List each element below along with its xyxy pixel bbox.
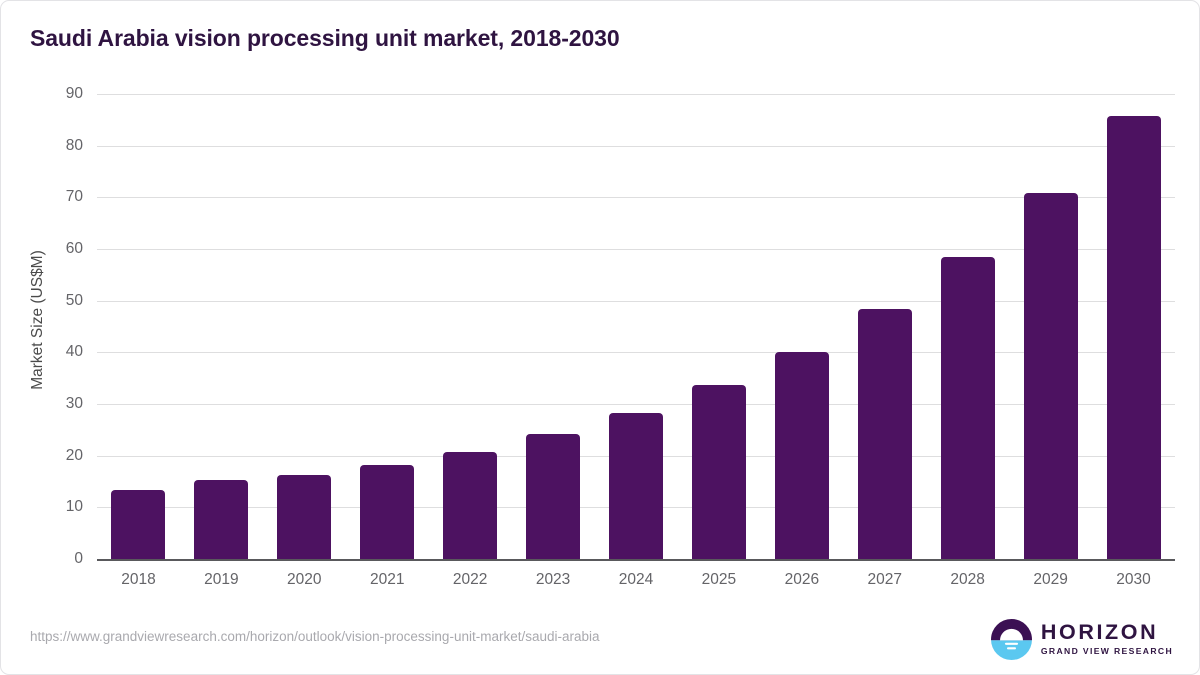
x-axis-tick-label: 2026: [785, 571, 819, 589]
bar[interactable]: [941, 257, 995, 559]
bar-slot: 2026: [760, 94, 843, 559]
bar[interactable]: [111, 490, 165, 559]
bar[interactable]: [443, 452, 497, 559]
bar-slot: 2027: [843, 94, 926, 559]
bar-slot: 2024: [595, 94, 678, 559]
bar[interactable]: [1107, 116, 1161, 559]
y-axis-tick-label: 30: [3, 395, 83, 413]
x-axis-tick-label: 2030: [1116, 571, 1150, 589]
y-axis-tick-label: 90: [3, 85, 83, 103]
bar-series: 2018201920202021202220232024202520262027…: [97, 94, 1175, 559]
source-url[interactable]: https://www.grandviewresearch.com/horizo…: [30, 629, 600, 644]
x-axis-line: [97, 559, 1175, 561]
x-axis-tick-label: 2020: [287, 571, 321, 589]
bar[interactable]: [194, 480, 248, 559]
x-axis-tick-label: 2029: [1033, 571, 1067, 589]
bar[interactable]: [858, 309, 912, 559]
y-axis-tick-label: 20: [3, 447, 83, 465]
bar-slot: 2022: [429, 94, 512, 559]
x-axis-tick-label: 2021: [370, 571, 404, 589]
horizon-logo-icon: [991, 619, 1032, 660]
y-axis-tick-label: 70: [3, 188, 83, 206]
x-axis-tick-label: 2019: [204, 571, 238, 589]
bar[interactable]: [360, 465, 414, 559]
x-axis-tick-label: 2018: [121, 571, 155, 589]
bar-slot: 2021: [346, 94, 429, 559]
bar-slot: 2029: [1009, 94, 1092, 559]
x-axis-tick-label: 2024: [619, 571, 653, 589]
logo-subtitle: GRAND VIEW RESEARCH: [1041, 647, 1173, 656]
bar[interactable]: [1024, 193, 1078, 559]
bar[interactable]: [277, 475, 331, 559]
bar[interactable]: [609, 413, 663, 559]
y-axis-tick-label: 80: [3, 137, 83, 155]
bar-slot: 2019: [180, 94, 263, 559]
bar-slot: 2023: [512, 94, 595, 559]
bar[interactable]: [692, 385, 746, 559]
chart-title: Saudi Arabia vision processing unit mark…: [30, 25, 620, 52]
logo-wordmark: HORIZON: [1041, 622, 1173, 644]
x-axis-tick-label: 2025: [702, 571, 736, 589]
bar[interactable]: [775, 352, 829, 559]
bar-slot: 2030: [1092, 94, 1175, 559]
y-axis-tick-label: 60: [3, 240, 83, 258]
y-axis-tick-label: 10: [3, 498, 83, 516]
x-axis-tick-label: 2022: [453, 571, 487, 589]
bar-slot: 2025: [677, 94, 760, 559]
chart-figure: Saudi Arabia vision processing unit mark…: [0, 0, 1200, 675]
horizon-logo-text: HORIZON GRAND VIEW RESEARCH: [1041, 622, 1173, 656]
x-axis-tick-label: 2028: [950, 571, 984, 589]
y-axis-tick-label: 0: [3, 550, 83, 568]
bar[interactable]: [526, 434, 580, 559]
plot-canvas: 0102030405060708090 20182019202020212022…: [97, 94, 1175, 559]
plot-area: Market Size (US$M) 0102030405060708090 2…: [1, 81, 1200, 601]
bar-slot: 2020: [263, 94, 346, 559]
bar-slot: 2018: [97, 94, 180, 559]
y-axis-tick-label: 40: [3, 343, 83, 361]
bar-slot: 2028: [926, 94, 1009, 559]
y-axis-tick-label: 50: [3, 292, 83, 310]
x-axis-tick-label: 2027: [868, 571, 902, 589]
horizon-logo: HORIZON GRAND VIEW RESEARCH: [991, 617, 1173, 661]
x-axis-tick-label: 2023: [536, 571, 570, 589]
